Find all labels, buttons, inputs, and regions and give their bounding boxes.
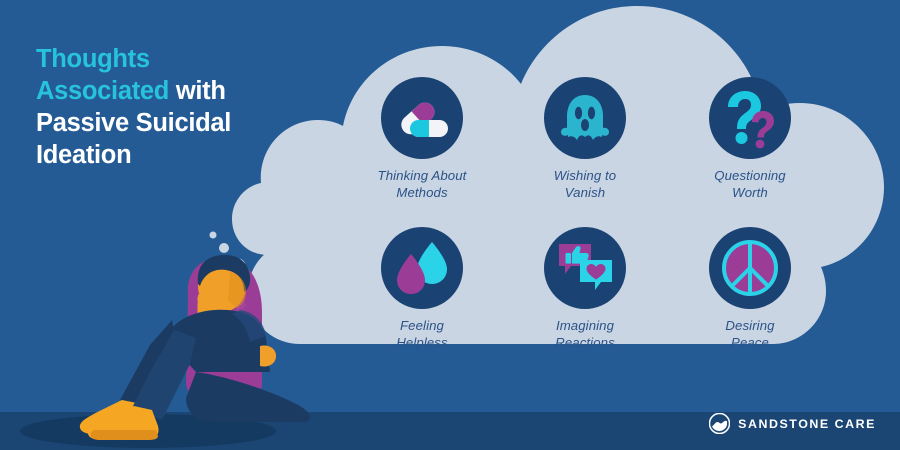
icon-label-peace-line1: Desiring (725, 318, 774, 333)
icon-label-helpless-line1: Feeling (400, 318, 444, 333)
title-line-4: Ideation (36, 140, 306, 172)
icon-label-reactions-line1: Imagining (556, 318, 614, 333)
ghost-icon (556, 89, 614, 147)
icon-label-worth-line1: Questioning (714, 168, 785, 183)
icon-disc-helpless (381, 227, 463, 309)
icon-disc-vanish (544, 77, 626, 159)
icon-disc-reactions (544, 227, 626, 309)
icon-node-wishing-to-vanish[interactable]: Wishing to Vanish (520, 77, 650, 201)
mountain-circle-icon (709, 413, 730, 434)
bubble-dot-medium (219, 243, 229, 253)
heart-bubble (580, 260, 612, 290)
icon-label-reactions: Imagining Reactions (520, 318, 650, 351)
icon-label-worth-line2: Worth (685, 185, 815, 202)
question-marks-icon (719, 87, 781, 149)
pills-icon (391, 87, 453, 149)
icon-label-helpless: Feeling Helpless (357, 318, 487, 351)
chat-bubbles-reactions-icon (555, 238, 615, 298)
icon-node-desiring-peace[interactable]: Desiring Peace (685, 227, 815, 351)
icon-label-worth: Questioning Worth (685, 168, 815, 201)
title-accent-1: Thoughts (36, 45, 150, 73)
title-white-2: with (169, 77, 226, 105)
title-line-3: Passive Suicidal (36, 108, 306, 140)
icon-disc-worth (709, 77, 791, 159)
icon-label-vanish: Wishing to Vanish (520, 168, 650, 201)
peace-sign-icon (721, 239, 779, 297)
icon-disc-methods (381, 77, 463, 159)
icon-label-helpless-line2: Helpless (357, 335, 487, 352)
icon-label-methods-line2: Methods (357, 185, 487, 202)
icon-node-imagining-reactions[interactable]: Imagining Reactions (520, 227, 650, 351)
icon-disc-peace (709, 227, 791, 309)
infographic-canvas: Thoughts Associated with Passive Suicida… (0, 0, 900, 450)
icon-label-peace-line2: Peace (685, 335, 815, 352)
icon-label-methods: Thinking About Methods (357, 168, 487, 201)
person-front-shoe-sole (91, 430, 158, 440)
icon-node-thinking-about-methods[interactable]: Thinking About Methods (357, 77, 487, 201)
icon-label-methods-line1: Thinking About (378, 168, 467, 183)
icon-node-feeling-helpless[interactable]: Feeling Helpless (357, 227, 487, 351)
icon-label-reactions-line2: Reactions (520, 335, 650, 352)
page-title: Thoughts Associated with Passive Suicida… (36, 44, 306, 172)
title-line-2: Associated with (36, 76, 306, 108)
logo-text: SANDSTONE CARE (738, 417, 876, 431)
title-line-1: Thoughts (36, 44, 306, 76)
title-accent-2: Associated (36, 77, 169, 105)
teardrops-icon (392, 238, 452, 298)
icon-label-vanish-line1: Wishing to (554, 168, 616, 183)
icon-label-peace: Desiring Peace (685, 318, 815, 351)
icon-label-vanish-line2: Vanish (520, 185, 650, 202)
sandstone-care-logo[interactable]: SANDSTONE CARE (709, 413, 876, 434)
bubble-dot-small (210, 232, 217, 239)
icon-node-questioning-worth[interactable]: Questioning Worth (685, 77, 815, 201)
